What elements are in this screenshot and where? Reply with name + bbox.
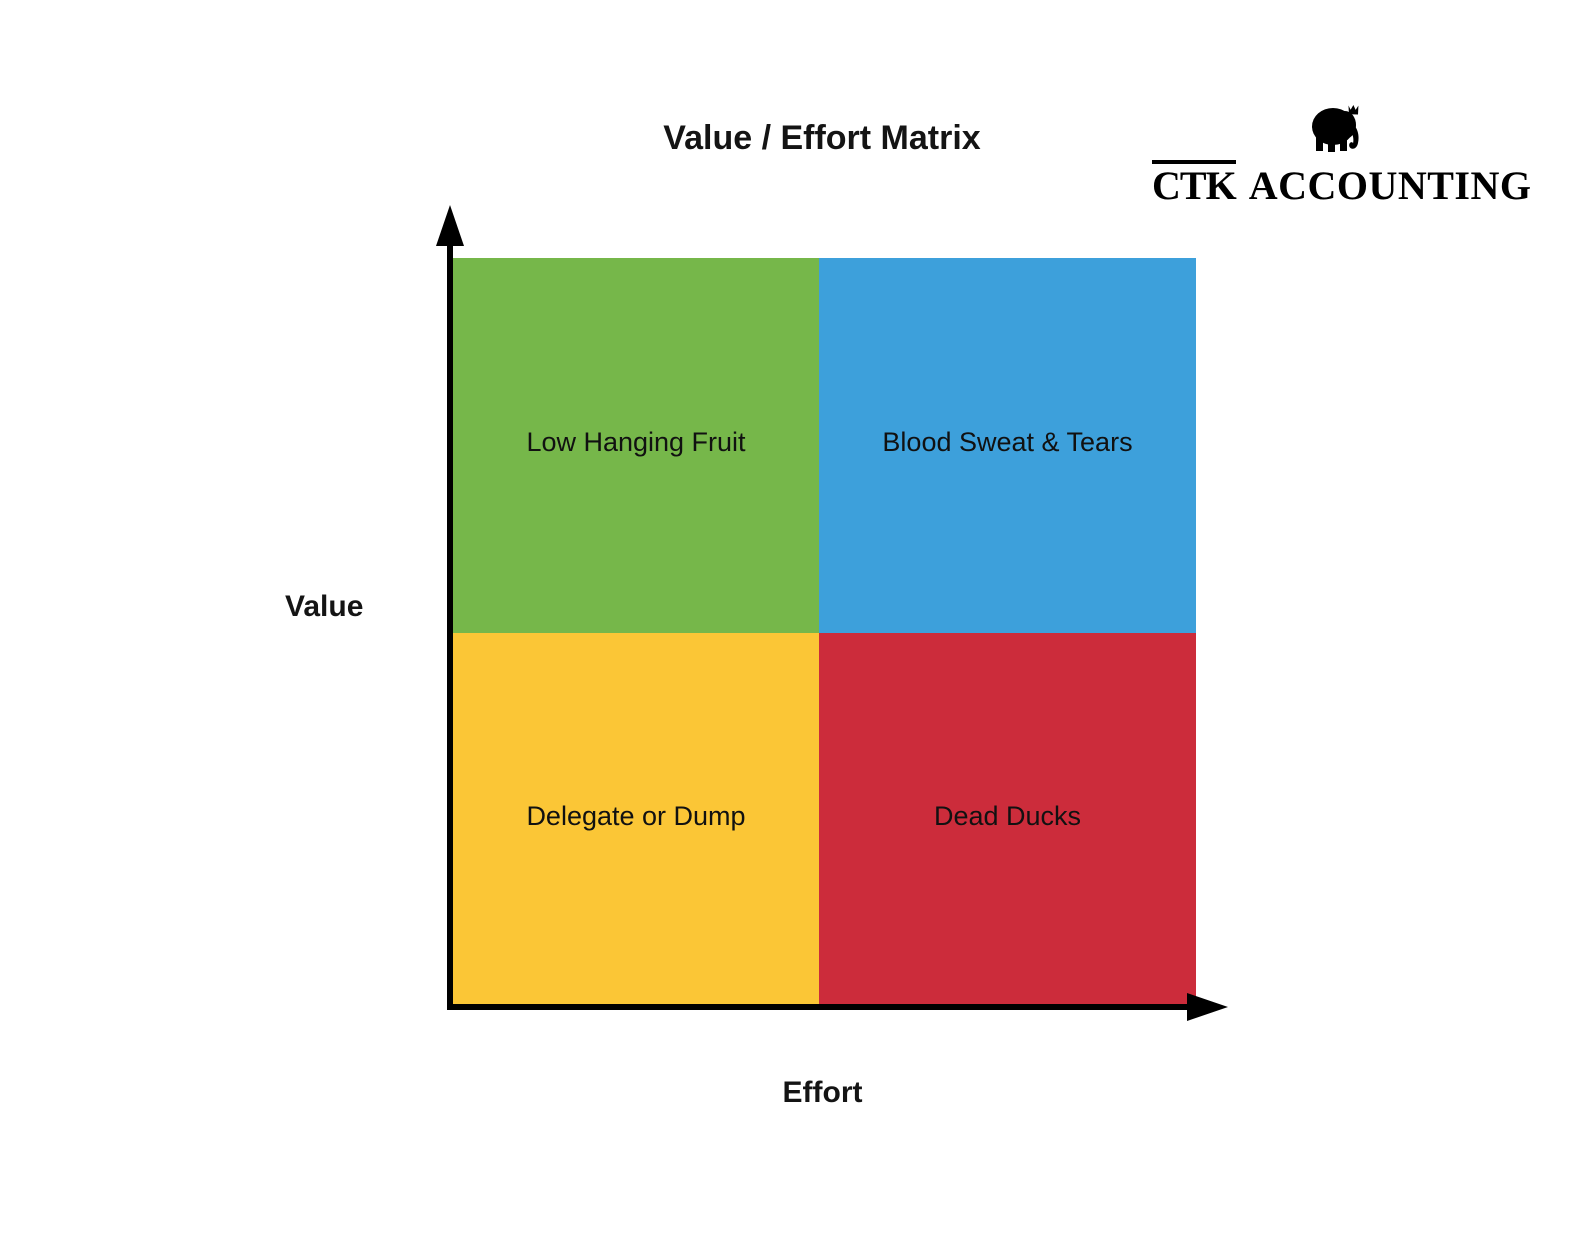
quadrant-grid: Low Hanging Fruit Blood Sweat & Tears De… xyxy=(453,258,1196,1007)
y-axis-label-value: Value xyxy=(285,590,363,624)
quadrant-low-hanging-fruit[interactable]: Low Hanging Fruit xyxy=(453,258,819,633)
quadrant-label-low-hanging-fruit: Low Hanging Fruit xyxy=(453,427,819,458)
quadrant-label-blood-sweat-and-tears: Blood Sweat & Tears xyxy=(819,427,1196,458)
quadrant-label-delegate-or-dump: Delegate or Dump xyxy=(453,801,819,832)
y-axis-arrowhead xyxy=(436,205,464,246)
x-axis-label-effort: Effort xyxy=(0,1076,1575,1110)
quadrant-delegate-or-dump[interactable]: Delegate or Dump xyxy=(453,633,819,1007)
quadrant-blood-sweat-and-tears[interactable]: Blood Sweat & Tears xyxy=(819,258,1196,633)
quadrant-label-dead-ducks: Dead Ducks xyxy=(819,801,1196,832)
quadrant-dead-ducks[interactable]: Dead Ducks xyxy=(819,633,1196,1007)
value-effort-matrix: Low Hanging Fruit Blood Sweat & Tears De… xyxy=(0,0,1575,1238)
